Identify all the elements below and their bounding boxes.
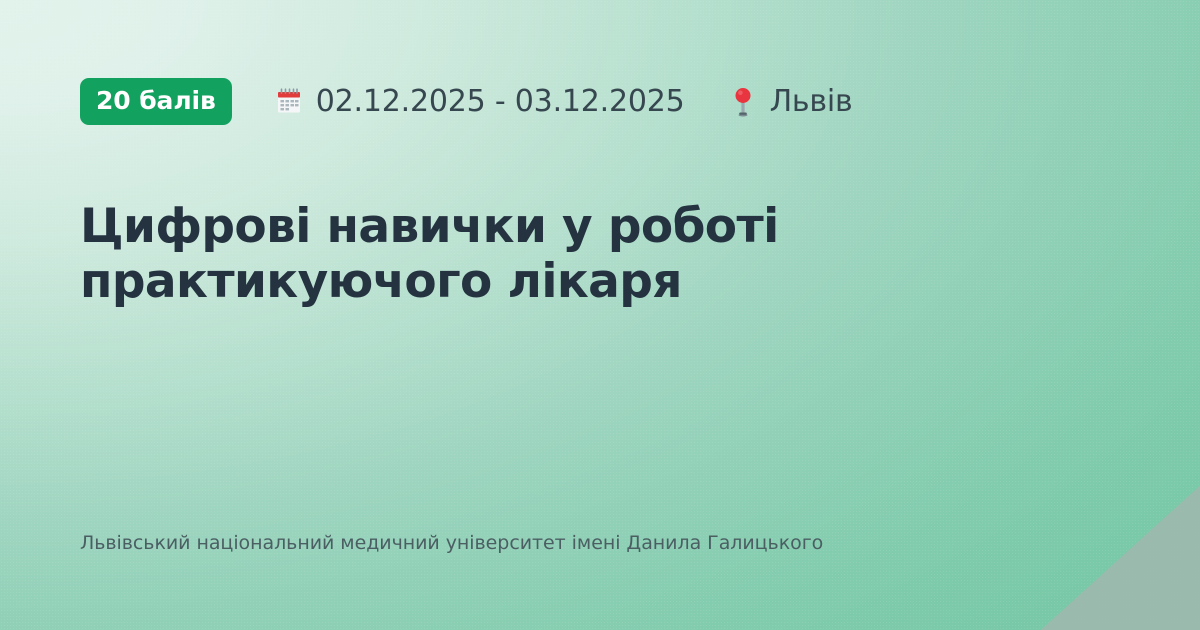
calendar-icon bbox=[275, 86, 303, 118]
event-meta-row: 20 балів bbox=[80, 78, 1120, 125]
card-content: 20 балів bbox=[0, 0, 1200, 630]
event-date: 02.12.2025 - 03.12.2025 bbox=[275, 86, 685, 118]
points-badge: 20 балів bbox=[80, 78, 232, 125]
event-date-text: 02.12.2025 - 03.12.2025 bbox=[316, 87, 685, 117]
event-location-text: Львів bbox=[770, 87, 853, 117]
map-pin-icon bbox=[729, 86, 757, 118]
page-title: Цифрові навички у роботі практикуючого л… bbox=[80, 199, 840, 309]
event-location: Львів bbox=[729, 86, 853, 118]
event-banner-card: 20 балів bbox=[0, 0, 1200, 630]
